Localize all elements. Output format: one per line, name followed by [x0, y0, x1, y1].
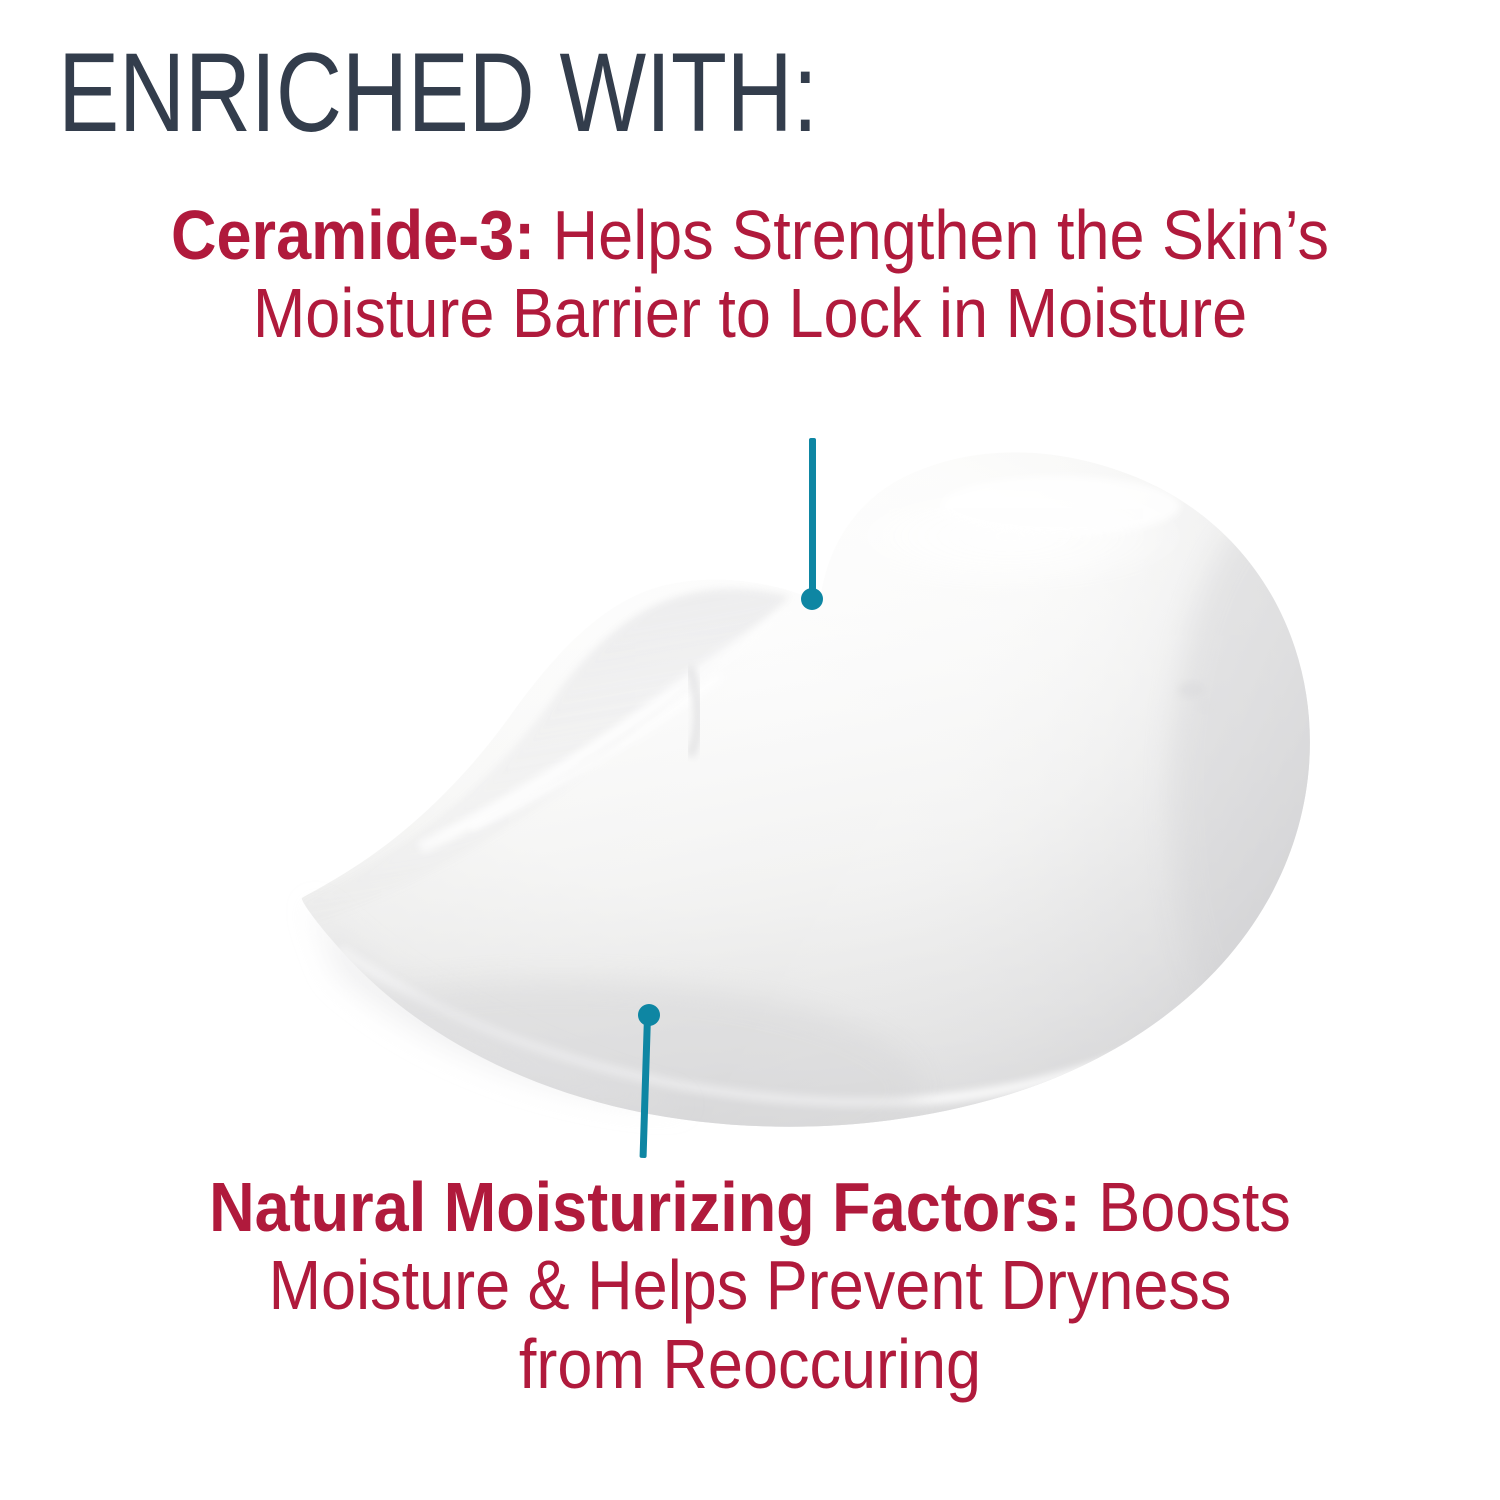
ingredient-line: Ceramide-3: Helps Strengthen the Skin’s: [111, 196, 1389, 274]
ceramide-callout-line: [795, 438, 835, 618]
product-feature-canvas: ENRICHED WITH: Ceramide-3: Helps Strengt…: [0, 0, 1500, 1500]
ingredient-name: Ceramide-3:: [171, 196, 535, 274]
ingredient-line: Moisture & Helps Prevent Dryness: [111, 1246, 1389, 1324]
ingredient-line: Natural Moisturizing Factors: Boosts: [111, 1168, 1389, 1246]
leader-dot-icon: [801, 588, 823, 610]
ingredient-line: Moisture Barrier to Lock in Moisture: [111, 274, 1389, 352]
ingredient-benefit: Helps Strengthen the Skin’s: [535, 196, 1329, 274]
page-title: ENRICHED WITH:: [58, 34, 818, 152]
ingredient-ceramide-3: Ceramide-3: Helps Strengthen the Skin’s …: [40, 196, 1460, 353]
ingredient-name: Natural Moisturizing Factors:: [209, 1168, 1081, 1246]
leader-line-icon: [809, 438, 816, 600]
nmf-callout-line: [632, 1004, 672, 1164]
ingredient-line: from Reoccuring: [111, 1325, 1389, 1403]
ingredient-natural-moisturizing-factors: Natural Moisturizing Factors: Boosts Moi…: [40, 1168, 1460, 1403]
ingredient-benefit: Boosts: [1081, 1168, 1291, 1246]
leader-line-icon: [640, 1016, 651, 1158]
